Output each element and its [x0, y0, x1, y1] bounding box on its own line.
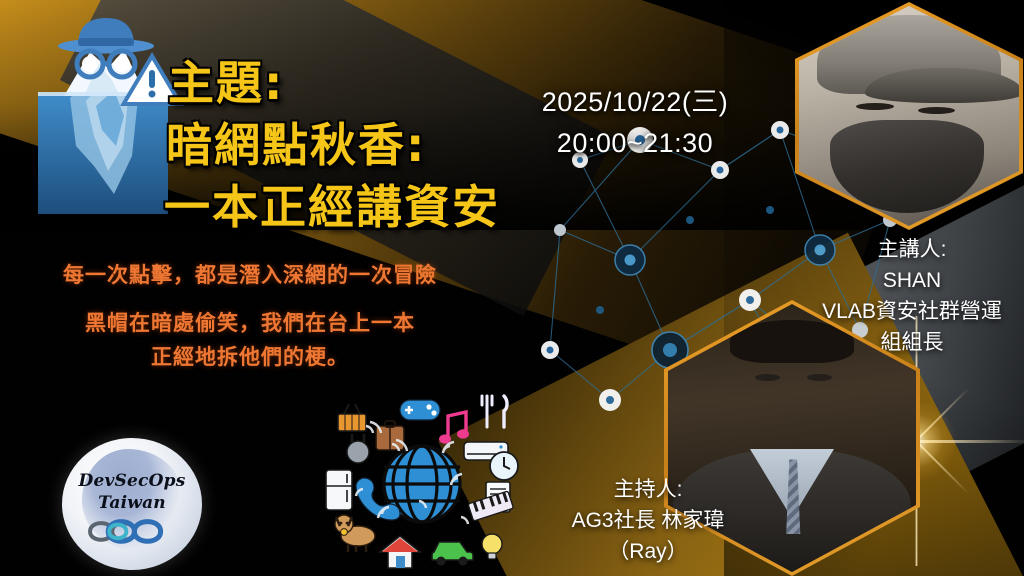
speaker-org-line-1: VLAB資安社群營運	[800, 296, 1024, 327]
event-poster: 主題: 暗網點秋香: 一本正經講資安 每一次點擊，都是潛入深網的一次冒險 黑帽在…	[0, 0, 1024, 576]
host-alias: （Ray）	[540, 536, 756, 567]
logo-text: DevSecOps Taiwan	[62, 470, 202, 514]
event-schedule: 2025/10/22(三) 20:00~21:30	[520, 82, 750, 164]
tagline-1: 每一次點擊，都是潛入深網的一次冒險	[20, 258, 480, 292]
host-role-label: 主持人:	[540, 474, 756, 505]
logo-text-line-1: DevSecOps	[62, 470, 202, 492]
iot-cluster-icon	[322, 386, 522, 576]
tagline-group: 每一次點擊，都是潛入深網的一次冒險 黑帽在暗處偷笑，我們在台上一本 正經地拆他們…	[20, 258, 480, 374]
host-caption: 主持人: AG3社長 林家瑋 （Ray）	[540, 474, 756, 567]
event-time: 20:00~21:30	[520, 123, 750, 164]
devsecops-taiwan-logo: DevSecOps Taiwan	[62, 438, 202, 570]
title-line-3: 一本正經講資安	[164, 176, 608, 238]
speaker-name: SHAN	[800, 265, 1024, 296]
infinity-icon	[82, 509, 183, 554]
speaker-role-label: 主講人:	[800, 234, 1024, 265]
event-date: 2025/10/22(三)	[520, 82, 750, 123]
tagline-2: 黑帽在暗處偷笑，我們在台上一本	[20, 306, 480, 340]
host-name: AG3社長 林家瑋	[540, 505, 756, 536]
tagline-3: 正經地拆他們的梗。	[20, 340, 480, 374]
